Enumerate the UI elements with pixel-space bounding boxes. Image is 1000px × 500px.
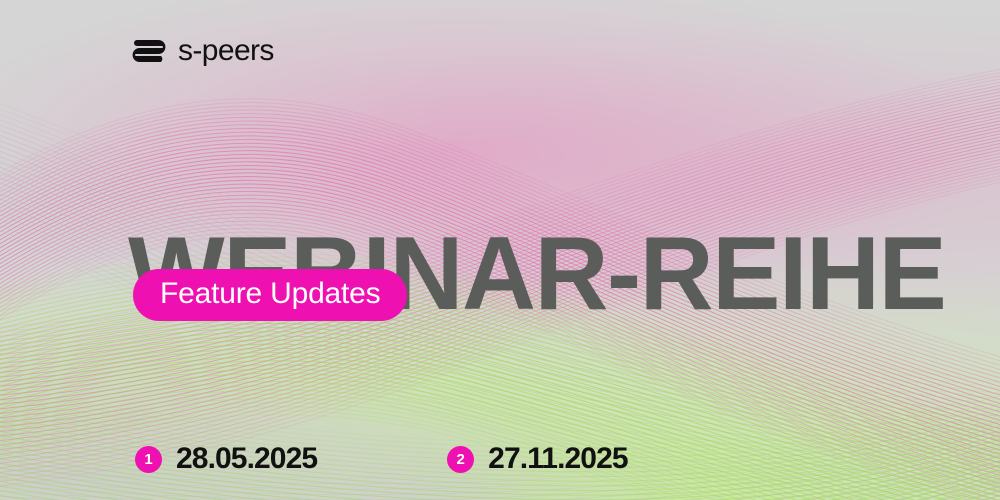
brand-logo: s-peers (131, 36, 274, 66)
badge-label: Feature Updates (160, 279, 380, 309)
webinar-banner: s-peers WEBINAR-REIHE Feature Updates 1 … (0, 0, 1000, 500)
list-item[interactable]: 2 27.11.2025 (447, 444, 628, 474)
brand-wordmark: s-peers (178, 36, 274, 66)
date-label: 27.11.2025 (488, 444, 628, 474)
date-list: 1 28.05.2025 2 27.11.2025 (135, 444, 628, 474)
date-index-badge: 1 (135, 446, 162, 473)
date-label: 28.05.2025 (176, 444, 317, 474)
status-badge: Feature Updates (133, 269, 407, 321)
s-peers-logo-mark (131, 38, 167, 64)
date-index-badge: 2 (447, 446, 474, 473)
list-item[interactable]: 1 28.05.2025 (135, 444, 317, 474)
